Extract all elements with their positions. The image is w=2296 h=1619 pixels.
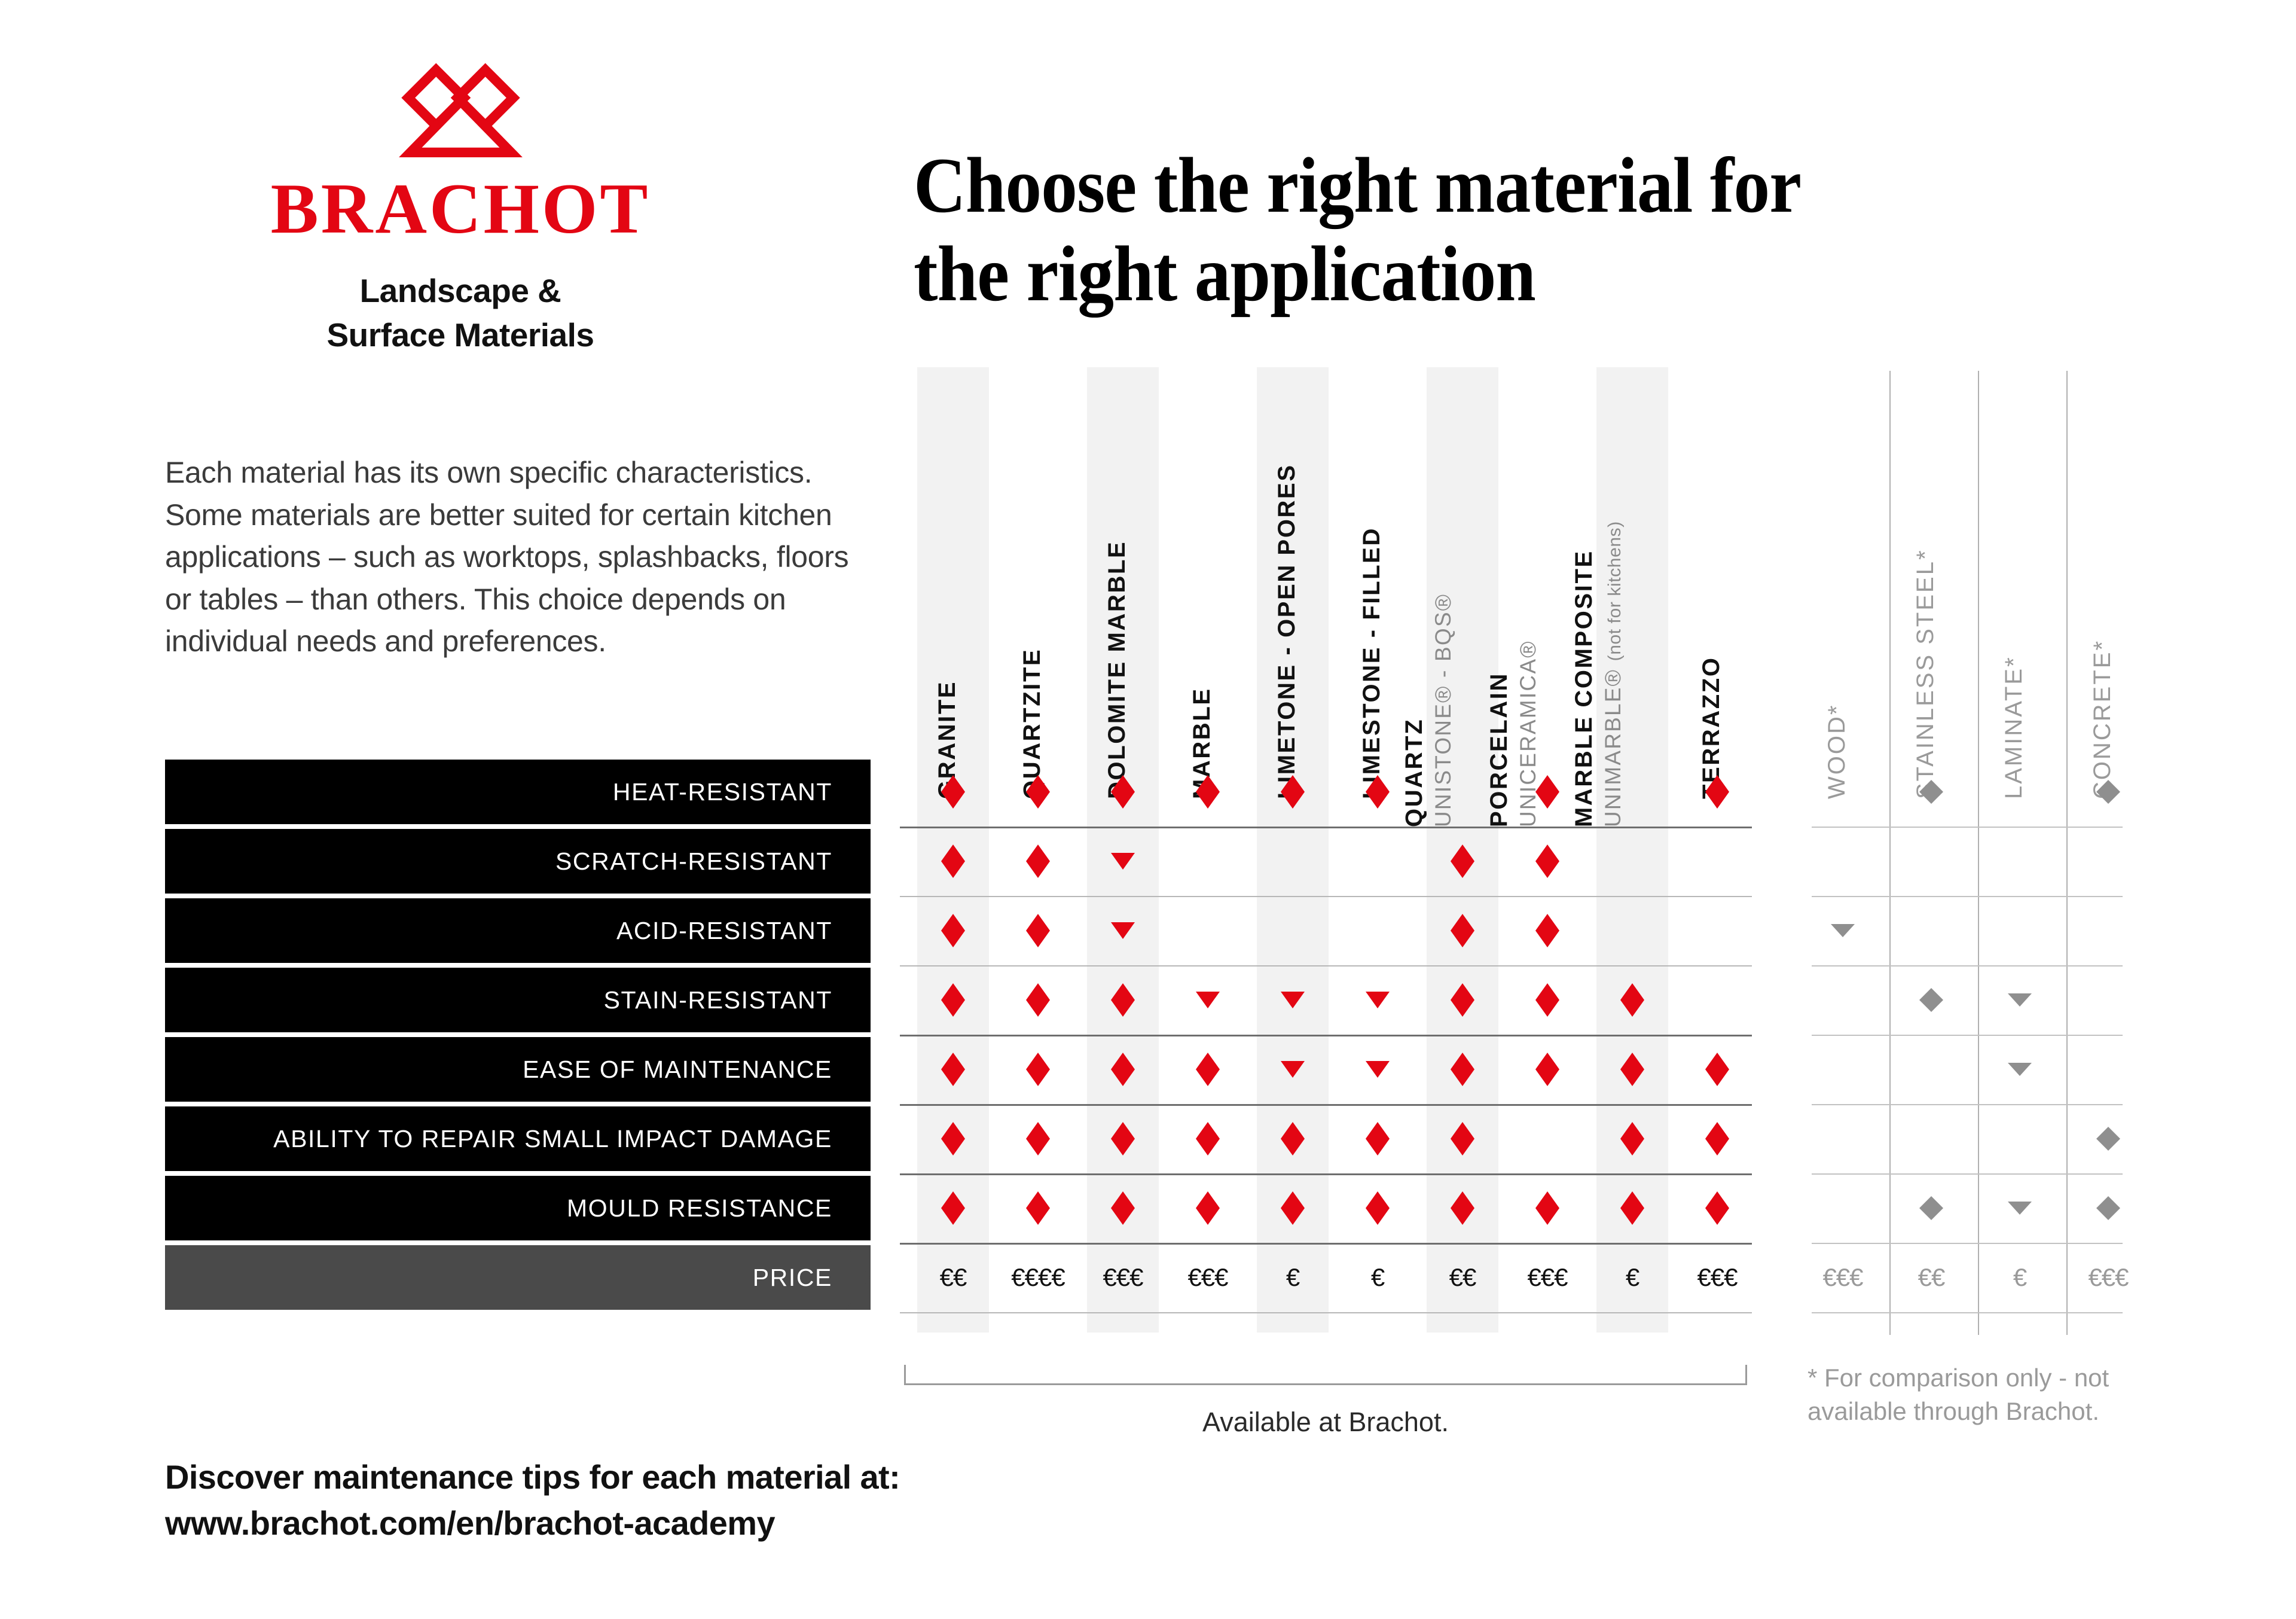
bar-arrow-tip	[845, 968, 871, 1032]
comparison-row-separator-1	[1812, 827, 2123, 828]
price-cell-wood: €€€	[1799, 1263, 1887, 1292]
bar-arrow-tip	[845, 1245, 871, 1310]
marker-grey-half-r5-c3	[2008, 1063, 2032, 1076]
row-label-text: ABILITY TO REPAIR SMALL IMPACT DAMAGE	[273, 1125, 832, 1153]
marker-full-r5-c10	[1705, 1053, 1729, 1086]
price-cell-limestone-filled: €	[1342, 1263, 1413, 1292]
row-separator-2	[900, 896, 1752, 897]
marker-full-r5-c2	[1026, 1053, 1050, 1086]
column-header-name: TERRAZZO	[1698, 656, 1724, 799]
column-header-stainless-steel: STAINLESS STEEL*	[1913, 548, 1937, 799]
column-header-name: LIMETONE - OPEN PORES	[1274, 464, 1300, 799]
row-label-bar-ability-to-repair-small-impact-damage: ABILITY TO REPAIR SMALL IMPACT DAMAGE	[165, 1106, 871, 1171]
bar-arrow-tip	[845, 1037, 871, 1102]
row-label-text: PRICE	[753, 1264, 832, 1292]
row-separator-7	[900, 1243, 1752, 1245]
marker-grey-full-r7-c2	[1919, 1196, 1943, 1220]
column-header-name: LIMESTONE - FILLED	[1358, 527, 1385, 799]
bar-arrow-tip	[845, 1106, 871, 1171]
column-header-name: DOLOMITE MARBLE	[1104, 541, 1130, 799]
marker-full-r6-c2	[1026, 1122, 1050, 1155]
column-header-porcelain: PORCELAINUNICERAMICA®	[1487, 640, 1539, 827]
column-header-name: LAMINATE*	[2001, 655, 2027, 799]
price-cell-marble-composite: €	[1596, 1263, 1668, 1292]
price-cell-quartz: €€	[1427, 1263, 1498, 1292]
marker-full-r7-c4	[1196, 1191, 1220, 1225]
available-caption: Available at Brachot.	[904, 1407, 1747, 1438]
column-header-quartzite: QUARTZITE	[1020, 648, 1044, 799]
price-cell-terrazzo: €€€	[1681, 1263, 1753, 1292]
row-label-bar-acid-resistant: ACID-RESISTANT	[165, 898, 871, 963]
row-separator-4	[900, 1035, 1752, 1036]
column-header-name: PORCELAIN	[1486, 672, 1512, 827]
row-separator-1	[900, 827, 1752, 828]
comparison-column-divider-1	[1889, 371, 1891, 1335]
marker-full-r7-c10	[1705, 1191, 1729, 1225]
comparison-row-separator-7	[1812, 1243, 2123, 1244]
marker-full-r6-c10	[1705, 1122, 1729, 1155]
comparison-row-separator-5	[1812, 1104, 2123, 1105]
comparison-row-separator-8	[1812, 1312, 2123, 1313]
row-label-text: SCRATCH-RESISTANT	[555, 847, 832, 876]
marker-half-r4-c4	[1196, 992, 1220, 1008]
column-header-quartz: QUARTZUNISTONE® - BQS®	[1402, 593, 1454, 827]
column-header-wood: WOOD*	[1825, 704, 1849, 799]
marker-full-r5-c4	[1196, 1053, 1220, 1086]
column-header-name: CONCRETE*	[2089, 639, 2115, 799]
comparison-column-divider-2	[1978, 371, 1979, 1335]
row-separator-3	[900, 965, 1752, 966]
marker-half-r5-c6	[1366, 1061, 1390, 1078]
row-separator-8	[900, 1312, 1752, 1313]
row-label-bar-price: PRICE	[165, 1245, 871, 1310]
price-cell-dolomite-marble: €€€	[1087, 1263, 1159, 1292]
price-cell-granite: €€	[917, 1263, 989, 1292]
comparison-row-separator-3	[1812, 965, 2123, 966]
column-header-name: QUARTZITE	[1019, 648, 1045, 799]
row-label-text: EASE OF MAINTENANCE	[523, 1056, 832, 1084]
price-cell-stainless-steel: €€	[1887, 1263, 1976, 1292]
marker-full-r2-c2	[1026, 844, 1050, 878]
column-header-sub: UNICERAMICA®	[1517, 640, 1539, 827]
bar-arrow-tip	[845, 760, 871, 824]
row-label-text: HEAT-RESISTANT	[613, 778, 832, 806]
column-header-limestone-filled: LIMESTONE - FILLED	[1360, 527, 1384, 799]
price-cell-laminate: €	[1976, 1263, 2064, 1292]
price-cell-limetone-open-pores: €	[1257, 1263, 1329, 1292]
row-label-text: STAIN-RESISTANT	[604, 986, 832, 1014]
row-separator-6	[900, 1173, 1752, 1175]
bar-arrow-tip	[845, 898, 871, 963]
marker-full-r7-c2	[1026, 1191, 1050, 1225]
row-label-bar-scratch-resistant: SCRATCH-RESISTANT	[165, 829, 871, 894]
marker-grey-full-r6-c4	[2096, 1127, 2120, 1151]
marker-full-r5-c8	[1535, 1053, 1559, 1086]
row-separator-5	[900, 1104, 1752, 1106]
row-label-text: MOULD RESISTANCE	[567, 1194, 832, 1222]
column-header-name: QUARTZ	[1401, 718, 1427, 827]
available-bracket	[904, 1365, 1747, 1385]
column-header-name: MARBLE COMPOSITE	[1571, 550, 1597, 827]
marker-full-r7-c8	[1535, 1191, 1559, 1225]
comparison-column-divider-3	[2066, 371, 2068, 1335]
row-label-bar-heat-resistant: HEAT-RESISTANT	[165, 760, 871, 824]
row-label-text: ACID-RESISTANT	[616, 917, 832, 945]
row-label-bar-ease-of-maintenance: EASE OF MAINTENANCE	[165, 1037, 871, 1102]
column-header-dolomite-marble: DOLOMITE MARBLE	[1105, 541, 1129, 799]
row-label-bar-mould-resistance: MOULD RESISTANCE	[165, 1176, 871, 1240]
marker-grey-half-r7-c3	[2008, 1202, 2032, 1215]
column-header-laminate: LAMINATE*	[2002, 655, 2026, 799]
column-header-sub: UNISTONE® - BQS®	[1432, 593, 1454, 827]
price-cell-concrete: €€€	[2064, 1263, 2152, 1292]
marker-full-r3-c8	[1535, 914, 1559, 947]
marker-full-r2-c8	[1535, 844, 1559, 878]
row-label-bar-stain-resistant: STAIN-RESISTANT	[165, 968, 871, 1032]
marker-grey-full-r7-c4	[2096, 1196, 2120, 1220]
column-header-limetone-open-pores: LIMETONE - OPEN PORES	[1275, 464, 1299, 799]
price-cell-porcelain: €€€	[1512, 1263, 1583, 1292]
bar-arrow-tip	[845, 1176, 871, 1240]
marker-half-r4-c6	[1366, 992, 1390, 1008]
marker-full-r7-c6	[1366, 1191, 1390, 1225]
comparison-row-separator-2	[1812, 896, 2123, 897]
price-cell-quartzite: €€€€	[1002, 1263, 1074, 1292]
marker-full-r4-c2	[1026, 983, 1050, 1017]
marker-full-r3-c2	[1026, 914, 1050, 947]
marker-grey-half-r4-c3	[2008, 993, 2032, 1007]
column-header-concrete: CONCRETE*	[2090, 639, 2114, 799]
marker-full-r6-c4	[1196, 1122, 1220, 1155]
column-band-3	[1087, 367, 1159, 1333]
column-header-terrazzo: TERRAZZO	[1699, 656, 1723, 799]
comparison-row-separator-6	[1812, 1173, 2123, 1175]
column-header-marble-composite: MARBLE COMPOSITEUNIMARBLE® (not for kitc…	[1572, 521, 1624, 827]
column-band-9	[1596, 367, 1668, 1333]
marker-full-r6-c6	[1366, 1122, 1390, 1155]
price-cell-marble: €€€	[1172, 1263, 1244, 1292]
column-header-sub: UNIMARBLE® (not for kitchens)	[1602, 521, 1624, 827]
column-header-name: WOOD*	[1824, 704, 1850, 799]
comparison-footnote: * For comparison only - not available th…	[1808, 1361, 2190, 1429]
column-header-name: STAINLESS STEEL*	[1912, 548, 1938, 799]
bar-arrow-tip	[845, 829, 871, 894]
comparison-row-separator-4	[1812, 1035, 2123, 1036]
marker-full-r4-c8	[1535, 983, 1559, 1017]
marker-grey-full-r4-c2	[1919, 988, 1943, 1012]
marker-grey-half-r3-c1	[1831, 924, 1855, 937]
